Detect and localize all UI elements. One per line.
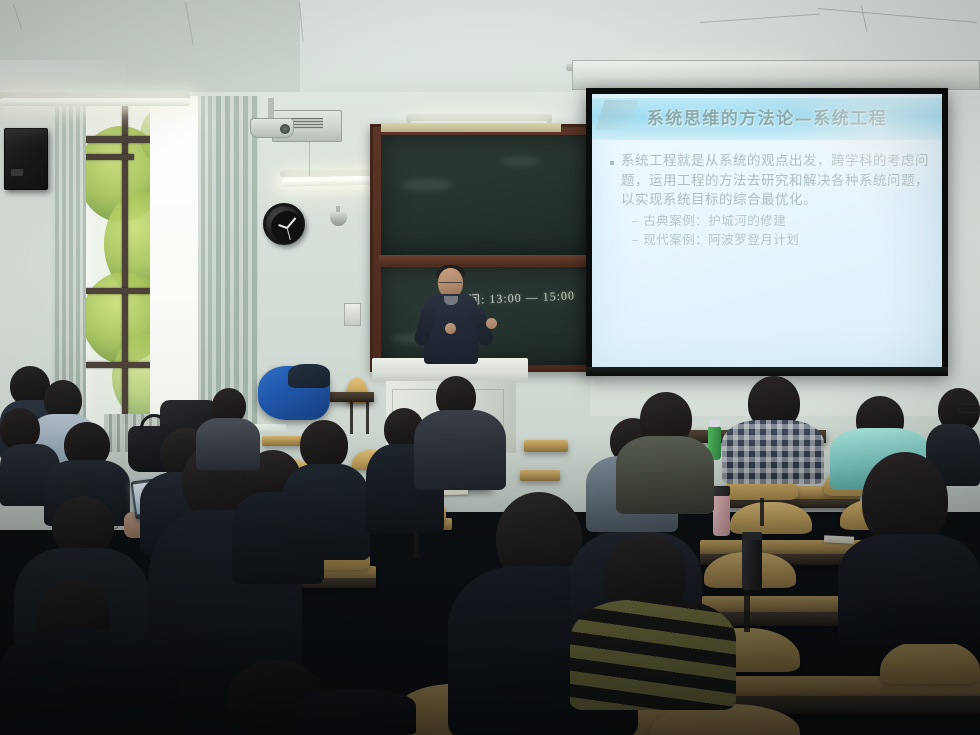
blackboard-lower-panel: 时间: 13:00 — 15:00	[381, 267, 593, 365]
student-torso	[722, 420, 824, 484]
student-glasses	[88, 518, 118, 529]
wall-clock	[263, 203, 305, 245]
thermos-pink-cap	[713, 486, 730, 496]
slide-bullet-text: 系统工程就是从系统的观点出发，跨学科的考虑问题，运用工程的方法去研究和解决各种系…	[621, 152, 940, 211]
projector-mount	[268, 98, 274, 120]
slide-body: 系统工程就是从系统的观点出发，跨学科的考虑问题，运用工程的方法去研究和解决各种系…	[610, 152, 940, 249]
student-torso	[570, 600, 736, 710]
clock-minute-hand	[286, 217, 296, 228]
lecturer-right-hand	[486, 318, 497, 329]
classroom-photograph: 时间: 13:00 — 15:00 系统思维的方法论—系统工程 系统工程就是从系…	[0, 0, 980, 735]
student-torso	[616, 436, 714, 514]
curtain-right	[212, 96, 258, 426]
student-torso	[282, 464, 370, 560]
chair-leg	[350, 402, 353, 434]
chair-leg	[760, 498, 764, 526]
student-glasses	[958, 404, 980, 413]
student-torso	[0, 630, 180, 735]
projection-screen-frame: 系统思维的方法论—系统工程 系统工程就是从系统的观点出发，跨学科的考虑问题，运用…	[586, 88, 948, 373]
blue-jacket-collar	[288, 364, 330, 388]
student-torso	[414, 410, 506, 490]
slide-title: 系统思维的方法论—系统工程	[592, 104, 942, 129]
thermos-black	[742, 538, 762, 590]
papers-on-desk	[824, 535, 854, 544]
chair-leg	[744, 588, 750, 632]
projection-screen: 系统思维的方法论—系统工程 系统工程就是从系统的观点出发，跨学科的考虑问题，运用…	[592, 94, 942, 367]
chair-leg	[366, 402, 369, 434]
lecturer-left-hand	[445, 323, 456, 334]
slide-sub-bullet: – 古典案例：护城河的修建	[632, 211, 940, 230]
board-top-strip	[381, 123, 561, 132]
slide-bullet: 系统工程就是从系统的观点出发，跨学科的考虑问题，运用工程的方法去研究和解决各种系…	[610, 152, 940, 211]
blackboard-upper-panel	[381, 135, 593, 255]
wall-speaker	[4, 128, 48, 190]
clock-second-hand	[287, 227, 291, 240]
student-head	[300, 420, 348, 470]
projection-screen-housing	[572, 60, 980, 90]
thermos-pink	[713, 494, 730, 536]
fluorescent-tube-light	[0, 98, 190, 106]
speaker-grille-icon	[11, 169, 23, 176]
lecturer-glasses	[439, 282, 462, 287]
projector-lens-icon	[280, 124, 290, 134]
desk-row	[520, 470, 560, 481]
blackboard-chalk-rail	[379, 255, 595, 266]
chair-back	[880, 640, 980, 684]
ceiling-projector	[250, 118, 294, 138]
side-desk	[330, 392, 374, 402]
thermos-black-cap	[742, 532, 762, 540]
screen-bottom-bar	[586, 367, 948, 376]
student-torso	[838, 534, 980, 644]
clock-face	[271, 211, 303, 243]
wall-switch-plate[interactable]	[344, 303, 361, 326]
student-torso	[196, 418, 260, 470]
desk-row	[524, 440, 568, 452]
thermos-green-cap	[709, 420, 720, 427]
bullet-dot-icon	[610, 161, 614, 165]
slide-sub-bullet: – 现代案例：阿波罗登月计划	[632, 230, 940, 249]
student-torso	[296, 690, 416, 735]
